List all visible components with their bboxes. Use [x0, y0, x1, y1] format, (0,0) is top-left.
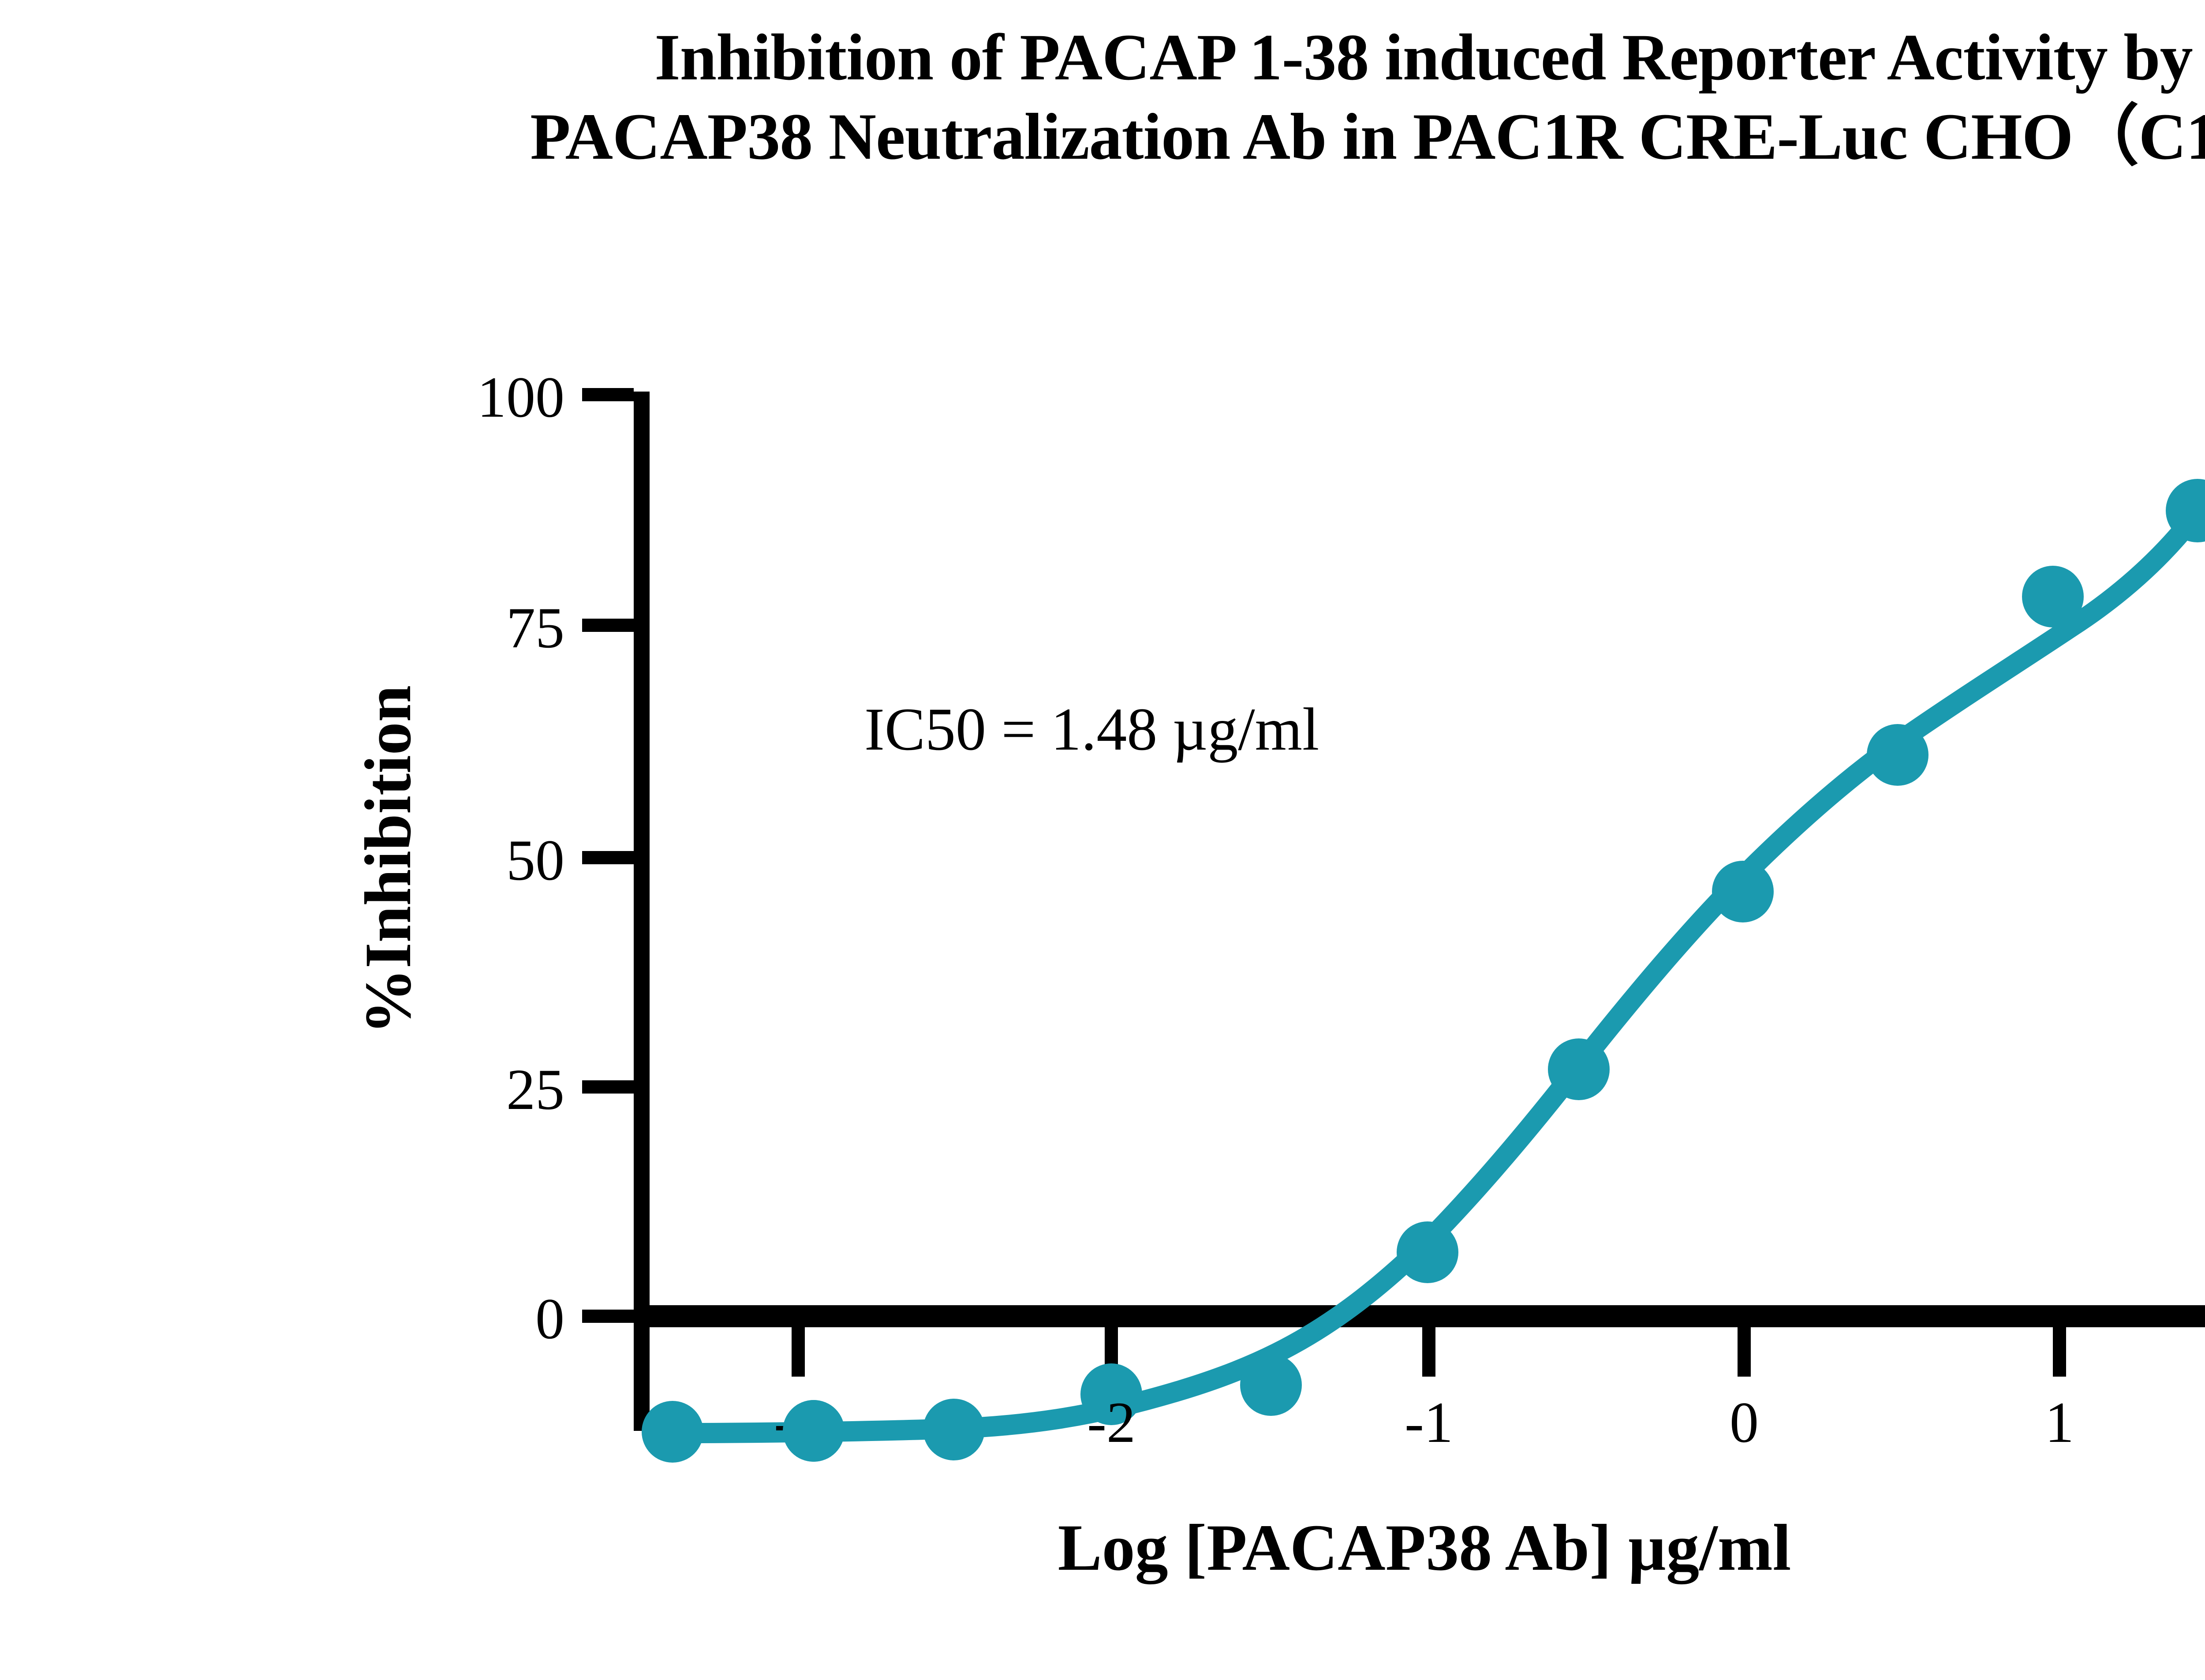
data-point	[642, 1401, 703, 1463]
data-point	[923, 1399, 985, 1460]
y-axis-title: %Inhibition	[351, 685, 425, 1034]
data-point	[1712, 861, 1774, 922]
x-tick-label-0: 0	[1730, 1390, 1759, 1455]
x-axis-title: Log [PACAP38 Ab] µg/ml	[1058, 1511, 1791, 1584]
data-point	[2022, 566, 2084, 627]
y-tick-label-25: 25	[506, 1057, 564, 1122]
ic50-annotation: IC50 = 1.48 µg/ml	[864, 695, 1319, 763]
x-tick-label-neg1: -1	[1405, 1390, 1453, 1455]
plot-area: 100 75 50 25 0	[0, 0, 2205, 1680]
x-tick-label-neg2: -2	[1087, 1390, 1136, 1455]
data-points-overlay	[783, 1400, 845, 1462]
data-point	[1548, 1038, 1610, 1100]
y-tick-label-100: 100	[477, 365, 564, 429]
data-point	[1397, 1221, 1458, 1283]
y-axis-ticks	[582, 395, 634, 1316]
y-tick-label-50: 50	[506, 828, 564, 892]
fit-curve	[673, 514, 2196, 1433]
x-axis-ticks	[798, 1327, 2059, 1377]
chart-figure: Inhibition of PACAP 1-38 induced Reporte…	[0, 0, 2205, 1680]
y-tick-label-0: 0	[535, 1286, 564, 1351]
data-point	[1240, 1354, 1302, 1416]
data-point	[1867, 724, 1928, 786]
data-point	[783, 1400, 845, 1462]
y-tick-label-75: 75	[506, 595, 564, 660]
x-tick-label-1: 1	[2045, 1390, 2074, 1455]
y-axis-tick-labels: 100 75 50 25 0	[477, 365, 564, 1351]
